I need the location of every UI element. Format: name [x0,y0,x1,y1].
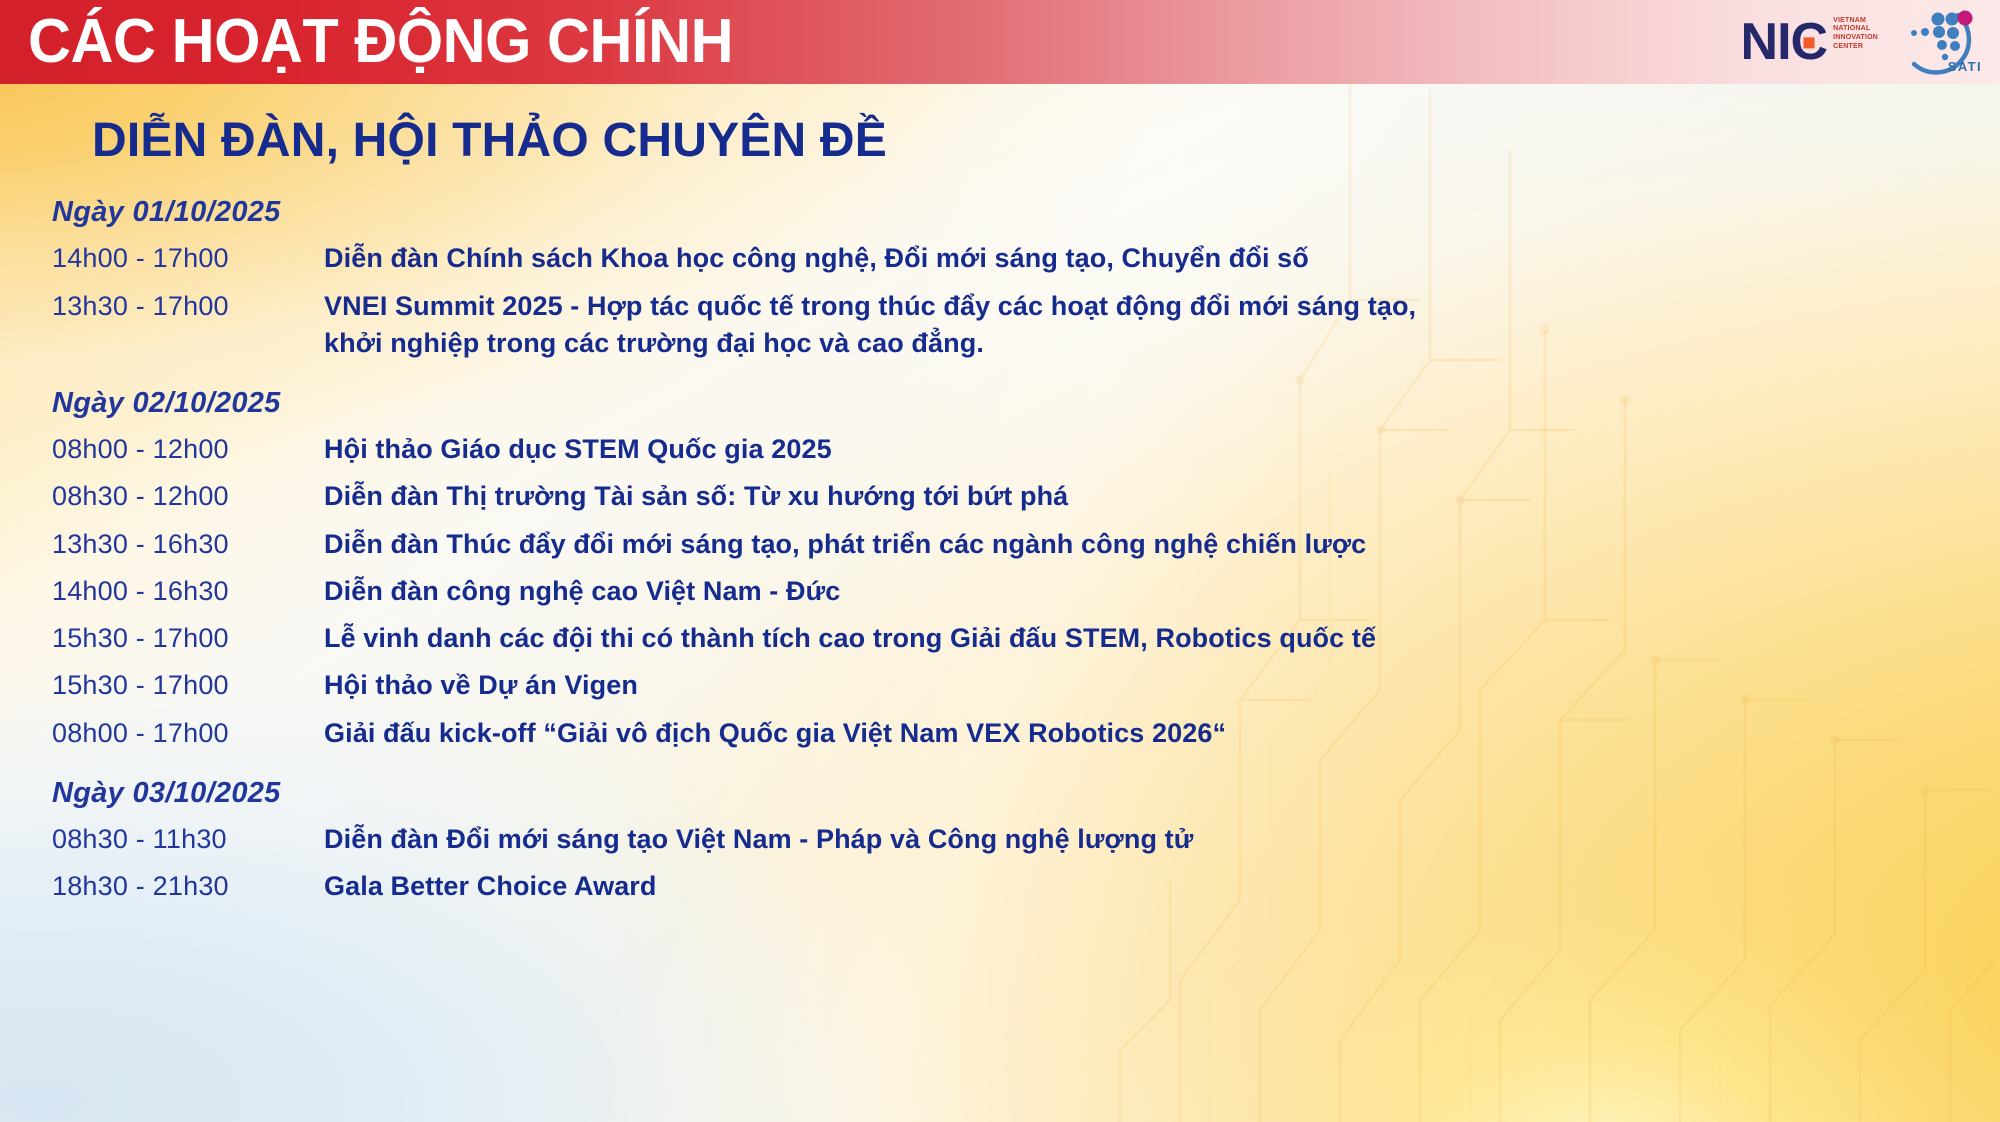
nic-orange-square-icon [1803,37,1814,48]
event-title: Gala Better Choice Award [324,868,657,905]
schedule-row[interactable]: 15h30 - 17h00 Lễ vinh danh các đội thi c… [52,615,2000,662]
nic-logo: N I C VIETNAM NATIONAL INNOVATION CENTER [1741,16,1878,68]
event-time: 18h30 - 21h30 [52,868,324,905]
page-title: CÁC HOẠT ĐỘNG CHÍNH [28,11,733,73]
nic-letter-c-icon: C [1791,16,1828,68]
day-block: Ngày 01/10/2025 14h00 - 17h00 Diễn đàn C… [0,196,2000,367]
schedule-row[interactable]: 13h30 - 17h00 VNEI Summit 2025 - Hợp tác… [52,283,2000,368]
event-time: 15h30 - 17h00 [52,667,324,704]
main-content: DIỄN ĐÀN, HỘI THẢO CHUYÊN ĐỀ Ngày 01/10/… [0,84,2000,1122]
event-time: 08h30 - 12h00 [52,478,324,515]
event-time: 13h30 - 17h00 [52,288,324,325]
nic-letter-n: N [1741,16,1778,68]
event-title: Diễn đàn công nghệ cao Việt Nam - Đức [324,573,840,610]
event-time: 13h30 - 16h30 [52,526,324,563]
event-title-line-1: Diễn đàn Đổi mới sáng tạo Việt Nam - Phá… [324,824,1193,854]
event-title: Diễn đàn Thúc đẩy đổi mới sáng tạo, phát… [324,526,1366,563]
event-title-line-1: Hội thảo về Dự án Vigen [324,670,638,700]
schedule-row[interactable]: 15h30 - 17h00 Hội thảo về Dự án Vigen [52,662,2000,709]
schedule-row[interactable]: 18h30 - 21h30 Gala Better Choice Award [52,863,2000,910]
event-title: Diễn đàn Thị trường Tài sản số: Từ xu hư… [324,478,1068,515]
day-label: Ngày 03/10/2025 [52,777,2000,810]
section-title: DIỄN ĐÀN, HỘI THẢO CHUYÊN ĐỀ [92,116,2000,166]
schedule-row[interactable]: 08h30 - 11h30 Diễn đàn Đổi mới sáng tạo … [52,816,2000,863]
schedule-row[interactable]: 14h00 - 16h30 Diễn đàn công nghệ cao Việ… [52,568,2000,615]
day-label: Ngày 02/10/2025 [52,387,2000,420]
sati-wordmark: SATI [1948,59,1982,74]
header-logo-group: N I C VIETNAM NATIONAL INNOVATION CENTER [1741,0,1982,84]
event-title-line-1: Diễn đàn Thị trường Tài sản số: Từ xu hư… [324,481,1068,511]
nic-letter-i: I [1777,16,1790,68]
event-title-line-1: Hội thảo Giáo dục STEM Quốc gia 2025 [324,434,832,464]
event-title-line-1: Diễn đàn Thúc đẩy đổi mới sáng tạo, phát… [324,529,1366,559]
day-block: Ngày 02/10/2025 08h00 - 12h00 Hội thảo G… [0,387,2000,757]
event-time: 14h00 - 17h00 [52,240,324,277]
day-label: Ngày 01/10/2025 [52,196,2000,229]
day-block: Ngày 03/10/2025 08h30 - 11h30 Diễn đàn Đ… [0,777,2000,911]
event-title-line-1: Lễ vinh danh các đội thi có thành tích c… [324,623,1376,653]
event-title-line-1: Diễn đàn Chính sách Khoa học công nghệ, … [324,243,1309,273]
event-title-line-1: Diễn đàn công nghệ cao Việt Nam - Đức [324,576,840,606]
event-time: 14h00 - 16h30 [52,573,324,610]
event-title: Diễn đàn Đổi mới sáng tạo Việt Nam - Phá… [324,821,1193,858]
schedule-list: Ngày 01/10/2025 14h00 - 17h00 Diễn đàn C… [0,196,2000,910]
event-title: Hội thảo Giáo dục STEM Quốc gia 2025 [324,431,832,468]
event-title-line-2: khởi nghiệp trong các trường đại học và … [324,325,1416,362]
event-time: 08h00 - 12h00 [52,431,324,468]
event-title-line-1: Gala Better Choice Award [324,871,657,901]
event-title: VNEI Summit 2025 - Hợp tác quốc tế trong… [324,288,1416,363]
schedule-row[interactable]: 08h30 - 12h00 Diễn đàn Thị trường Tài sả… [52,473,2000,520]
nic-wordmark: N I C [1741,16,1828,68]
event-title-line-1: Giải đấu kick-off “Giải vô địch Quốc gia… [324,718,1226,748]
event-title-line-1: VNEI Summit 2025 - Hợp tác quốc tế trong… [324,291,1416,321]
event-time: 08h30 - 11h30 [52,821,324,858]
nic-tagline-line-2: NATIONAL [1833,25,1878,34]
schedule-row[interactable]: 08h00 - 17h00 Giải đấu kick-off “Giải vô… [52,710,2000,757]
nic-tagline: VIETNAM NATIONAL INNOVATION CENTER [1833,17,1878,52]
event-title: Hội thảo về Dự án Vigen [324,667,638,704]
slide-root: CÁC HOẠT ĐỘNG CHÍNH N I C VIETNAM NATION… [0,0,2000,1122]
event-time: 15h30 - 17h00 [52,620,324,657]
schedule-row[interactable]: 14h00 - 17h00 Diễn đàn Chính sách Khoa h… [52,235,2000,282]
nic-tagline-line-4: CENTER [1833,43,1878,52]
schedule-row[interactable]: 08h00 - 12h00 Hội thảo Giáo dục STEM Quố… [52,426,2000,473]
nic-tagline-line-1: VIETNAM [1833,17,1878,26]
event-title: Lễ vinh danh các đội thi có thành tích c… [324,620,1376,657]
schedule-row[interactable]: 13h30 - 16h30 Diễn đàn Thúc đẩy đổi mới … [52,521,2000,568]
event-time: 08h00 - 17h00 [52,715,324,752]
nic-tagline-line-3: INNOVATION [1833,34,1878,43]
sati-logo: SATI [1898,7,1982,77]
event-title: Giải đấu kick-off “Giải vô địch Quốc gia… [324,715,1226,752]
header-bar: CÁC HOẠT ĐỘNG CHÍNH N I C VIETNAM NATION… [0,0,2000,84]
event-title: Diễn đàn Chính sách Khoa học công nghệ, … [324,240,1309,277]
